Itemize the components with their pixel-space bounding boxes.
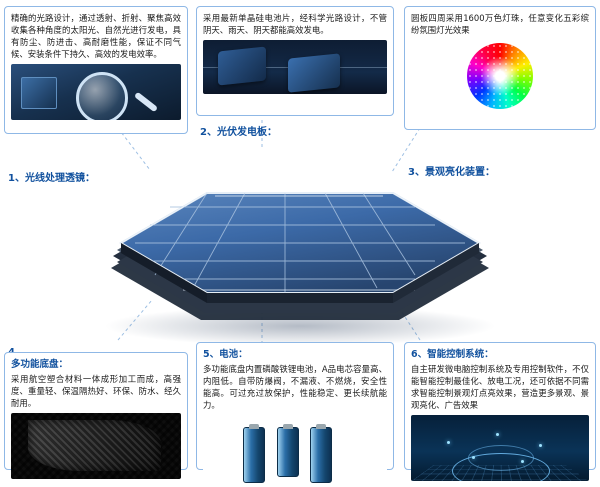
lens-chip-shape (21, 77, 57, 109)
battery-cell-1 (243, 427, 265, 483)
callout-card-lens[interactable]: 精确的光路设计，通过透射、折射、聚焦高效收集各种角度的太阳光、自然光进行发电，具… (4, 6, 188, 134)
callout-title-row-lens: 1、光线处理透镜： (8, 166, 188, 185)
magnifier-lens-photo (11, 64, 181, 120)
smart-node-2 (496, 433, 499, 436)
diagram-canvas: 精确的光路设计，通过透射、折射、聚焦高效收集各种角度的太阳光、自然光进行发电，具… (0, 0, 600, 476)
carbon-sheet-shape (28, 420, 161, 471)
callout-body-light: 圆板四周采用1600万色灯珠，任意变化五彩缤纷氛围灯光效果 (411, 12, 589, 36)
callout-title-row-light: 3、景观亮化装置： (408, 160, 598, 179)
smart-node-4 (472, 456, 475, 459)
battery-cell-3 (310, 427, 332, 483)
callout-title-text-control: 智能控制系统： (427, 349, 494, 360)
callout-body-base: 采用航空塑合材料一体成形加工而成，高强度、重量轻、保温隔热好、环保、防水、经久耐… (11, 373, 181, 409)
carbon-fiber-photo (11, 413, 181, 479)
callout-title-base: 多功能底盘： (11, 358, 181, 371)
callout-body-control: 自主研发微电脑控制系统及专用控制软件，不仅能智能控制最佳化、放电工况，还可依据不… (411, 363, 589, 411)
smart-node-1 (447, 441, 450, 444)
callout-number-pv: 2、 (200, 127, 217, 138)
callout-number-lens: 1、 (8, 173, 25, 184)
lithium-battery-photo (203, 415, 387, 487)
smart-node-3 (539, 444, 542, 447)
color-wheel-dots (467, 43, 533, 109)
lens-glass-shape (76, 72, 128, 120)
callout-card-battery[interactable]: 5、电池： 多功能底盘内置磷酸铁锂电池，A品电芯容量高、内阻低。自带防爆阀，不漏… (196, 342, 394, 470)
lens-handle-shape (134, 91, 158, 112)
callout-card-pv[interactable]: 采用最新单晶硅电池片，经科学光路设计，不管阴天、雨天、阴天都能高效发电。 (196, 6, 394, 116)
solar-cell-photo (203, 40, 387, 94)
callout-title-control: 6、智能控制系统： (411, 348, 589, 361)
callout-card-light[interactable]: 圆板四周采用1600万色灯珠，任意变化五彩缤纷氛围灯光效果 (404, 6, 596, 130)
callout-body-pv: 采用最新单晶硅电池片，经科学光路设计，不管阴天、雨天、阴天都能高效发电。 (203, 12, 387, 36)
solar-cell-shape-a (218, 46, 266, 85)
callout-card-control[interactable]: 6、智能控制系统： 自主研发微电脑控制系统及专用控制软件，不仅能智能控制最佳化、… (404, 342, 596, 470)
solar-cell-shape-b (288, 53, 340, 92)
callout-number-control: 6、 (411, 349, 427, 360)
callout-card-base[interactable]: 多功能底盘： 采用航空塑合材料一体成形加工而成，高强度、重量轻、保温隔热好、环保… (4, 352, 188, 470)
callout-title-pv: 光伏发电板： (217, 127, 277, 138)
callout-title-text-battery: 电池： (219, 349, 248, 360)
battery-cell-2 (277, 427, 299, 477)
color-wheel-photo (411, 40, 589, 112)
callout-title-row-pv: 2、光伏发电板： (200, 120, 400, 139)
callout-number-battery: 5、 (203, 349, 219, 360)
callout-title-light: 景观亮化装置： (425, 167, 495, 178)
callout-title-lens: 光线处理透镜： (25, 173, 95, 184)
callout-body-battery: 多功能底盘内置磷酸铁锂电池，A品电芯容量高、内阻低。自带防爆阀，不漏液、不燃烧，… (203, 363, 387, 411)
smart-city-network-photo (411, 415, 589, 481)
callout-number-light: 3、 (408, 167, 425, 178)
callout-title-battery: 5、电池： (203, 348, 387, 361)
callout-body-lens: 精确的光路设计，通过透射、折射、聚焦高效收集各种角度的太阳光、自然光进行发电，具… (11, 12, 181, 60)
